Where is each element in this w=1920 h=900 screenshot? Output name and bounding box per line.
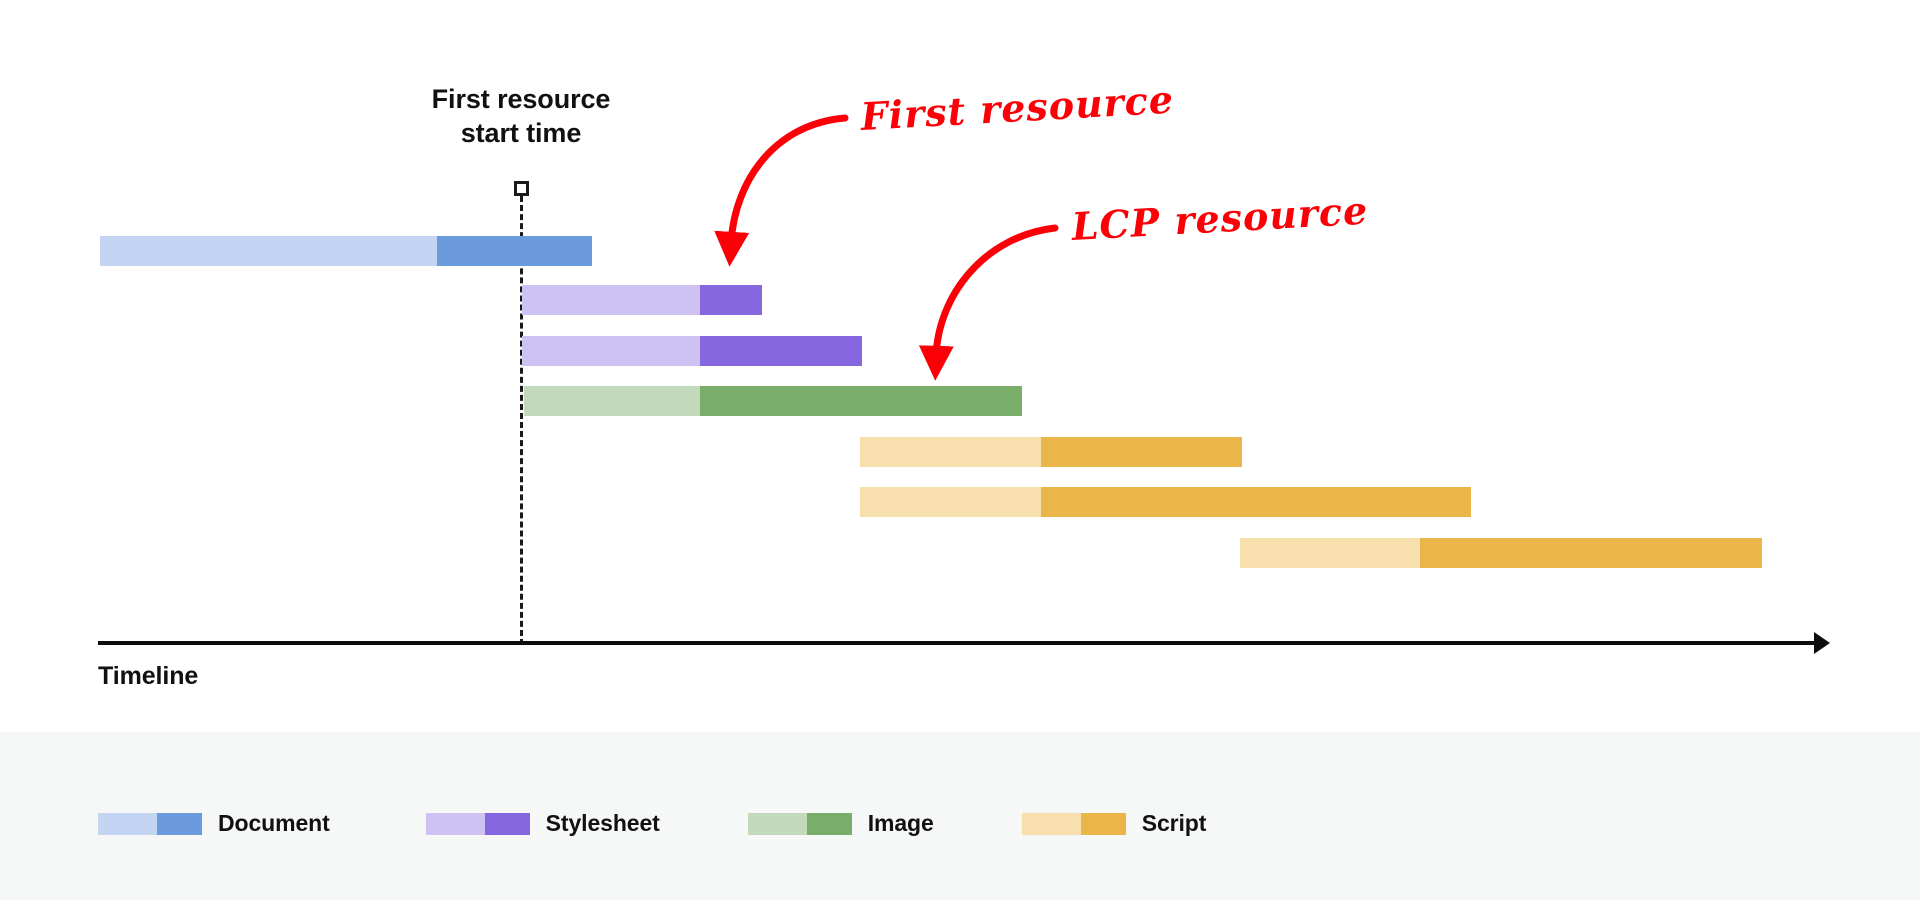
waterfall-chart-area: First resource start time First resource… — [0, 0, 1920, 732]
bar-load-segment — [700, 336, 862, 366]
legend-swatch-load — [157, 813, 202, 835]
bar-load-segment — [1420, 538, 1762, 568]
legend-item-image: Image — [748, 810, 934, 837]
bar-load-segment — [700, 386, 1022, 416]
bar-load-segment — [1041, 487, 1471, 517]
square-cap-icon — [514, 181, 529, 196]
legend-item-script: Script — [1022, 810, 1207, 837]
bar-wait-segment — [860, 487, 1041, 517]
legend-panel: DocumentStylesheetImageScript — [0, 732, 1920, 900]
bar-wait-segment — [524, 386, 700, 416]
bar-load-segment — [700, 285, 762, 315]
bar-wait-segment — [1240, 538, 1420, 568]
legend-item-stylesheet: Stylesheet — [426, 810, 660, 837]
waterfall-bar-document-0 — [100, 236, 592, 266]
legend-item-document: Document — [98, 810, 330, 837]
legend-swatch-load — [807, 813, 852, 835]
waterfall-bar-script-6 — [1240, 538, 1762, 568]
legend-swatch-image-icon — [748, 813, 852, 835]
bar-wait-segment — [522, 336, 700, 366]
curved-arrow-down-icon-first — [731, 118, 845, 243]
legend-label: Document — [218, 810, 330, 837]
legend-swatch-wait — [426, 813, 485, 835]
legend-label: Stylesheet — [546, 810, 660, 837]
bar-wait-segment — [860, 437, 1041, 467]
legend-swatch-wait — [748, 813, 807, 835]
bar-load-segment — [437, 236, 592, 266]
legend-swatch-script-icon — [1022, 813, 1126, 835]
legend-swatch-document-icon — [98, 813, 202, 835]
waterfall-bar-image-3 — [524, 386, 1022, 416]
waterfall-bar-script-4 — [860, 437, 1242, 467]
waterfall-bar-stylesheet-2 — [522, 336, 862, 366]
legend-label: Script — [1142, 810, 1207, 837]
timeline-axis-line — [98, 641, 1820, 645]
legend-swatch-load — [1081, 813, 1126, 835]
legend-swatch-stylesheet-icon — [426, 813, 530, 835]
bar-wait-segment — [100, 236, 437, 266]
arrow-right-icon — [1814, 632, 1830, 654]
curved-arrow-down-icon-lcp — [936, 228, 1055, 357]
timeline-axis-label: Timeline — [98, 662, 198, 691]
annotation-first-resource-text: First resource — [859, 77, 1175, 139]
legend-items: DocumentStylesheetImageScript — [98, 810, 1206, 837]
bar-load-segment — [1041, 437, 1242, 467]
annotation-lcp-resource-text: LCP resource — [1070, 188, 1369, 249]
legend-swatch-load — [485, 813, 530, 835]
legend-swatch-wait — [1022, 813, 1081, 835]
waterfall-bar-script-5 — [860, 487, 1471, 517]
legend-label: Image — [868, 810, 934, 837]
waterfall-bar-stylesheet-1 — [522, 285, 762, 315]
legend-swatch-wait — [98, 813, 157, 835]
bar-wait-segment — [522, 285, 700, 315]
first-resource-start-time-label: First resource start time — [381, 82, 661, 150]
